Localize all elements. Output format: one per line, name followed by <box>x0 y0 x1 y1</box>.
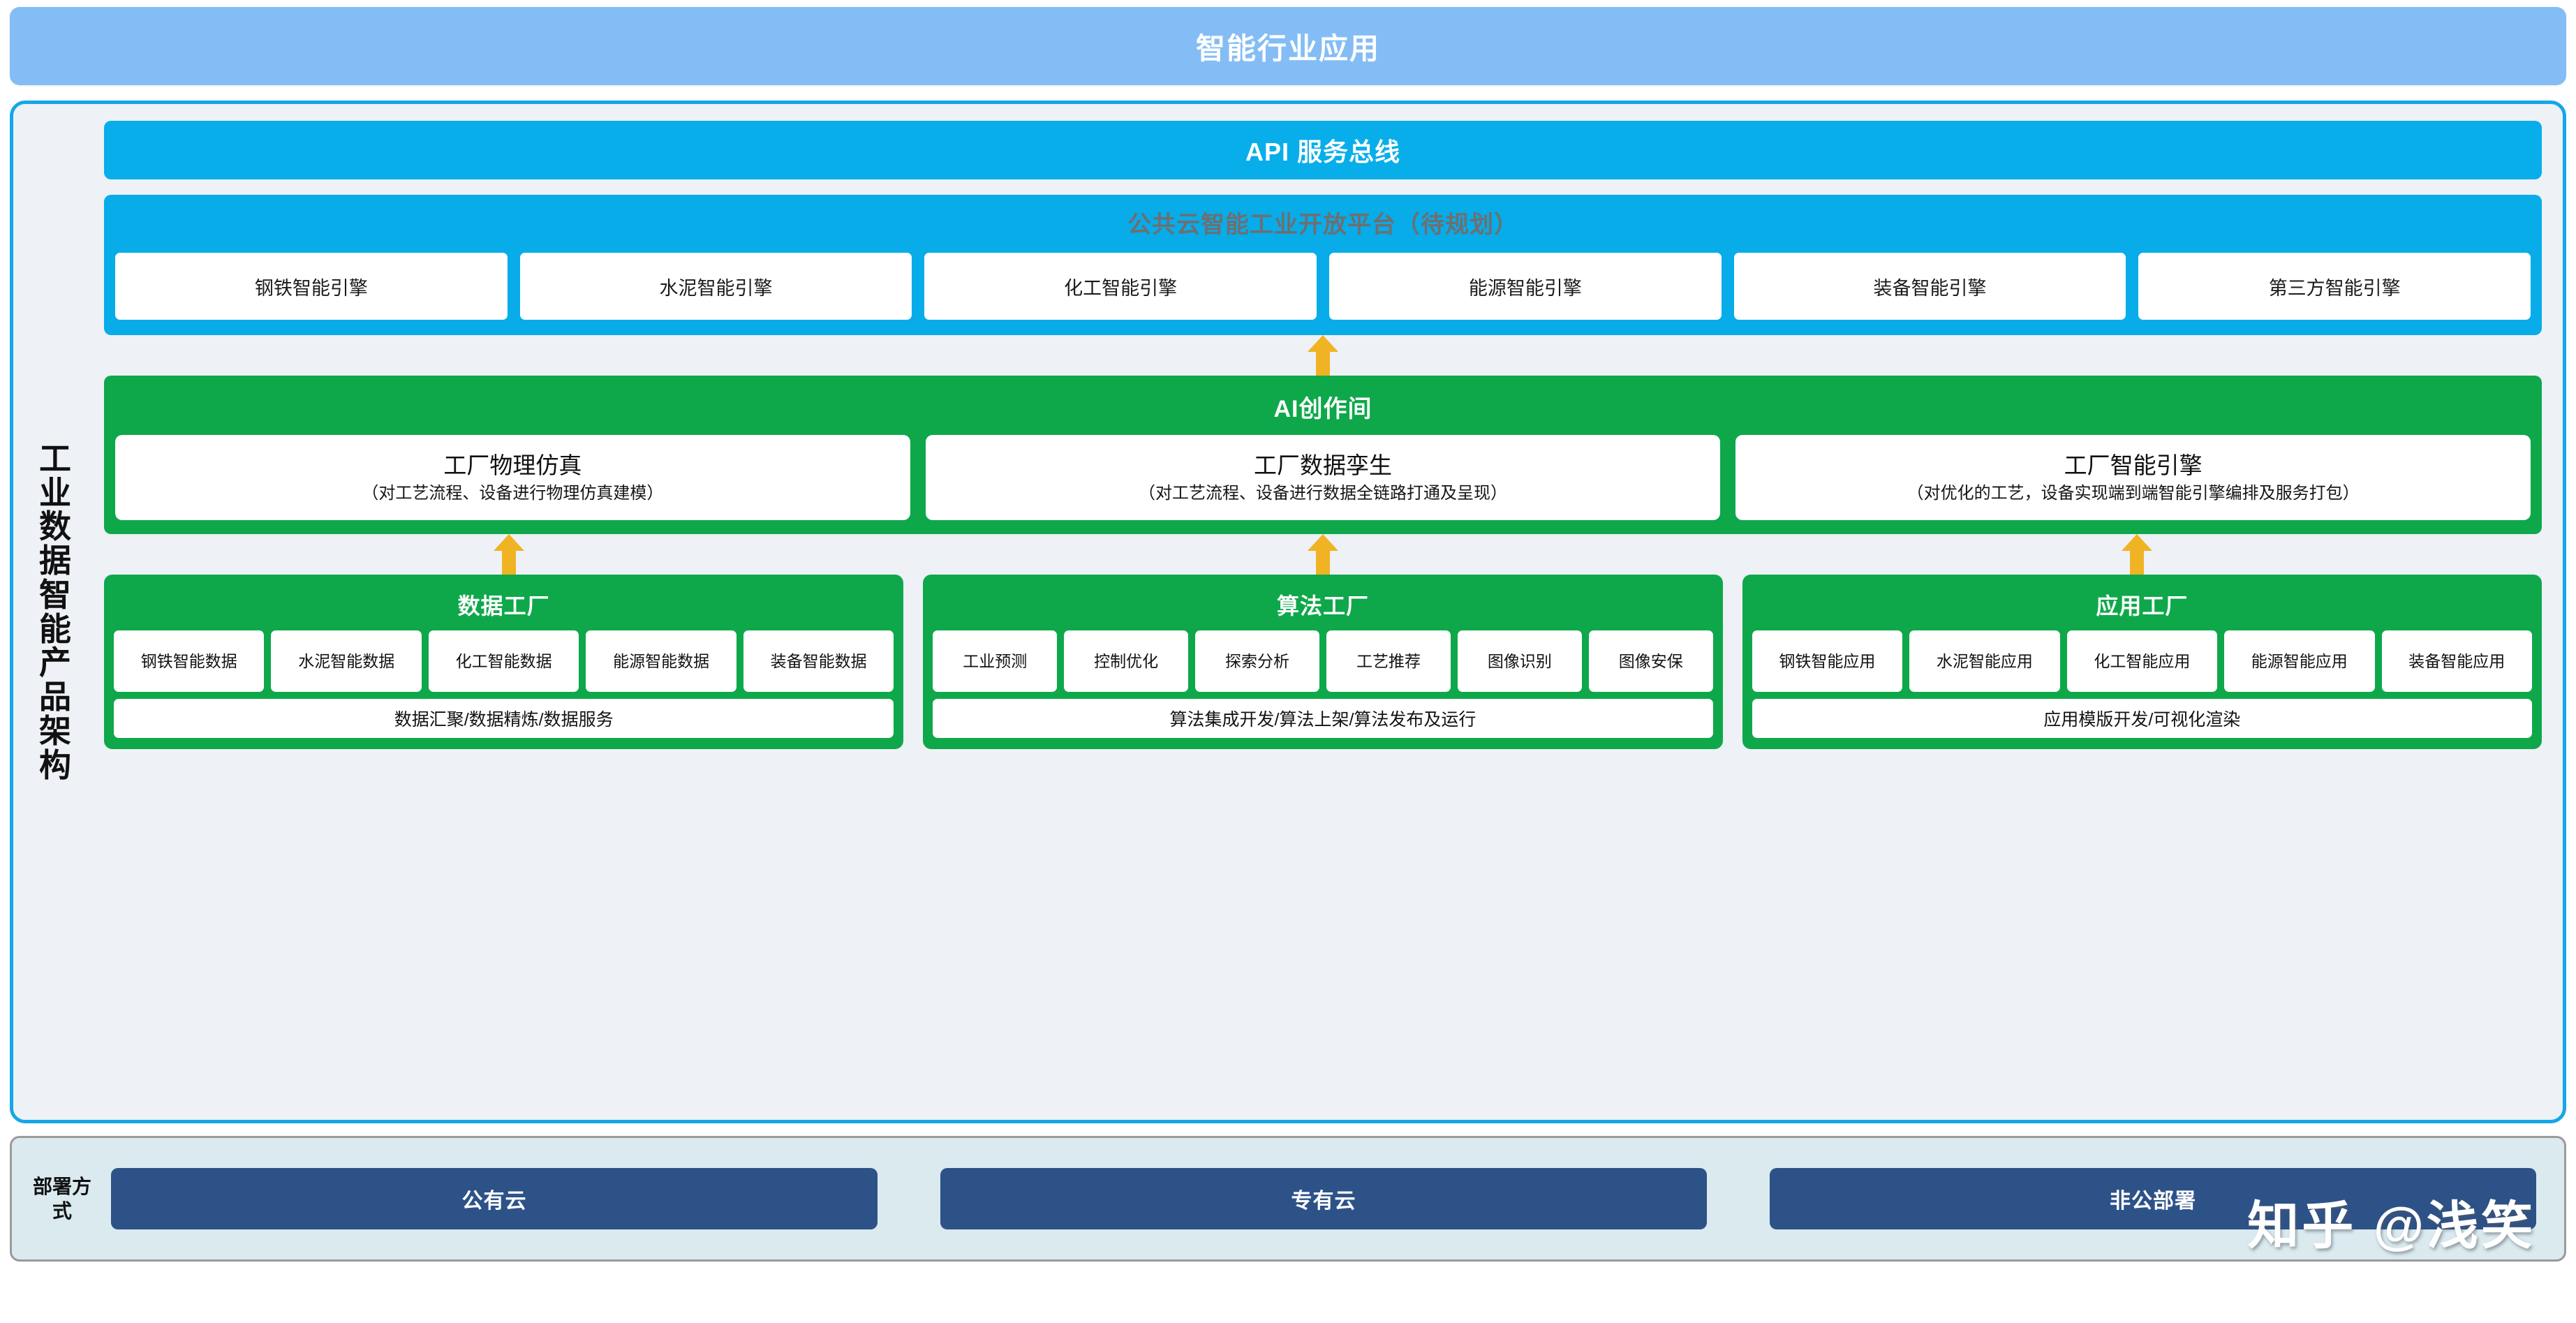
ai-studio-card-title: 工厂物理仿真 <box>443 451 582 480</box>
up-arrow-icon <box>1308 534 1338 575</box>
deploy-button-label: 专有云 <box>1291 1183 1356 1214</box>
factory-chip-label: 图像安保 <box>1619 651 1683 672</box>
ai-studio-title: AI创作间 <box>115 383 2531 435</box>
arrow-row-studio-to-platform <box>104 335 2542 376</box>
factory-chip[interactable]: 钢铁智能数据 <box>114 630 264 692</box>
factory-chip-row: 钢铁智能数据 水泥智能数据 化工智能数据 能源智能数据 装备智能数据 <box>114 630 894 692</box>
engine-label: 装备智能引擎 <box>1874 273 1987 300</box>
factory-chip-label: 工艺推荐 <box>1356 651 1421 672</box>
factory-chip-row: 钢铁智能应用 水泥智能应用 化工智能应用 能源智能应用 装备智能应用 <box>1752 630 2532 692</box>
factory-footer-label: 数据汇聚/数据精炼/数据服务 <box>394 706 614 731</box>
factory-chip[interactable]: 水泥智能数据 <box>271 630 421 692</box>
ai-studio-card-subtitle: （对优化的工艺，设备实现端到端智能引擎编排及服务打包） <box>1907 482 2360 504</box>
factory-footer: 算法集成开发/算法上架/算法发布及运行 <box>933 699 1712 738</box>
deploy-button-label: 公有云 <box>462 1183 527 1214</box>
factory-chip-label: 化工智能应用 <box>2094 651 2190 672</box>
factory-chip-label: 能源智能应用 <box>2251 651 2348 672</box>
architecture-diagram: 智能行业应用 工业数据智能产品架构 API 服务总线 公共云智能工业开放平台（待… <box>0 0 2576 1323</box>
deploy-private-button[interactable]: 非公部署 <box>1770 1168 2536 1229</box>
main-frame: 工业数据智能产品架构 API 服务总线 公共云智能工业开放平台（待规划） 钢铁智… <box>10 101 2566 1123</box>
factory-chip[interactable]: 工业预测 <box>933 630 1057 692</box>
ai-studio-card-title: 工厂智能引擎 <box>2064 451 2203 480</box>
api-bus-bar: API 服务总线 <box>104 121 2542 179</box>
factory-footer-label: 应用模版开发/可视化渲染 <box>2043 706 2240 731</box>
open-platform-block: 公共云智能工业开放平台（待规划） 钢铁智能引擎 水泥智能引擎 化工智能引擎 能源… <box>104 195 2542 335</box>
factory-chip-label: 化工智能数据 <box>456 651 552 672</box>
engine-card[interactable]: 化工智能引擎 <box>924 253 1317 320</box>
side-label: 工业数据智能产品架构 <box>13 104 97 1120</box>
factory-data: 数据工厂 钢铁智能数据 水泥智能数据 化工智能数据 能源智能数据 装备智能数据 … <box>104 575 903 749</box>
factory-chip-label: 图像识别 <box>1488 651 1552 672</box>
factory-chip[interactable]: 探索分析 <box>1195 630 1319 692</box>
factory-chip-label: 工业预测 <box>963 651 1027 672</box>
engine-card[interactable]: 钢铁智能引擎 <box>115 253 508 320</box>
factory-chip-label: 探索分析 <box>1225 651 1289 672</box>
factory-row: 数据工厂 钢铁智能数据 水泥智能数据 化工智能数据 能源智能数据 装备智能数据 … <box>104 575 2542 749</box>
factory-chip[interactable]: 化工智能数据 <box>429 630 579 692</box>
side-label-text: 工业数据智能产品架构 <box>34 442 77 783</box>
ai-studio-card[interactable]: 工厂数据孪生 （对工艺流程、设备进行数据全链路打通及呈现） <box>926 435 1721 520</box>
engine-label: 钢铁智能引擎 <box>255 273 368 300</box>
up-arrow-icon <box>1308 335 1338 376</box>
factory-chip[interactable]: 钢铁智能应用 <box>1752 630 1902 692</box>
factory-title: 数据工厂 <box>114 582 894 630</box>
factory-chip[interactable]: 工艺推荐 <box>1326 630 1451 692</box>
top-banner-title: 智能行业应用 <box>1196 25 1380 68</box>
factory-chip-label: 钢铁智能数据 <box>141 651 237 672</box>
deploy-dedicated-cloud-button[interactable]: 专有云 <box>940 1168 1707 1229</box>
api-bus-title: API 服务总线 <box>1245 132 1400 168</box>
factory-chip[interactable]: 图像识别 <box>1458 630 1582 692</box>
factory-chip-label: 装备智能数据 <box>771 651 867 672</box>
deployment-buttons: 公有云 专有云 非公部署 <box>111 1168 2536 1229</box>
engine-card[interactable]: 能源智能引擎 <box>1329 253 1722 320</box>
frame-body: API 服务总线 公共云智能工业开放平台（待规划） 钢铁智能引擎 水泥智能引擎 … <box>97 104 2563 1120</box>
engine-row: 钢铁智能引擎 水泥智能引擎 化工智能引擎 能源智能引擎 装备智能引擎 第三方智能… <box>115 253 2531 320</box>
ai-studio-card[interactable]: 工厂物理仿真 （对工艺流程、设备进行物理仿真建模） <box>115 435 910 520</box>
factory-chip[interactable]: 控制优化 <box>1064 630 1188 692</box>
deployment-label: 部署方式 <box>29 1174 96 1223</box>
factory-chip-label: 水泥智能数据 <box>298 651 394 672</box>
ai-studio-block: AI创作间 工厂物理仿真 （对工艺流程、设备进行物理仿真建模） 工厂数据孪生 （… <box>104 376 2542 534</box>
engine-label: 能源智能引擎 <box>1469 273 1582 300</box>
deployment-row: 部署方式 公有云 专有云 非公部署 <box>10 1136 2566 1262</box>
engine-label: 水泥智能引擎 <box>660 273 773 300</box>
factory-title: 算法工厂 <box>933 582 1712 630</box>
factory-footer-label: 算法集成开发/算法上架/算法发布及运行 <box>1170 706 1476 731</box>
factory-chip[interactable]: 化工智能应用 <box>2067 630 2217 692</box>
factory-chip[interactable]: 能源智能数据 <box>586 630 736 692</box>
top-banner: 智能行业应用 <box>10 7 2566 85</box>
factory-chip-label: 能源智能数据 <box>613 651 709 672</box>
engine-card[interactable]: 水泥智能引擎 <box>520 253 912 320</box>
factory-chip-label: 装备智能应用 <box>2408 651 2505 672</box>
ai-studio-card[interactable]: 工厂智能引擎 （对优化的工艺，设备实现端到端智能引擎编排及服务打包） <box>1735 435 2531 520</box>
ai-studio-card-title: 工厂数据孪生 <box>1254 451 1392 480</box>
factory-chip[interactable]: 图像安保 <box>1589 630 1713 692</box>
factory-algorithm: 算法工厂 工业预测 控制优化 探索分析 工艺推荐 图像识别 图像安保 算法集成开… <box>923 575 1722 749</box>
ai-studio-card-subtitle: （对工艺流程、设备进行数据全链路打通及呈现） <box>1139 482 1507 504</box>
factory-chip-label: 钢铁智能应用 <box>1779 651 1875 672</box>
factory-title: 应用工厂 <box>1752 582 2532 630</box>
factory-chip-label: 控制优化 <box>1094 651 1158 672</box>
deploy-button-label: 非公部署 <box>2110 1183 2196 1214</box>
engine-label: 第三方智能引擎 <box>2269 273 2401 300</box>
up-arrow-icon <box>2122 534 2152 575</box>
factory-footer: 数据汇聚/数据精炼/数据服务 <box>114 699 894 738</box>
engine-label: 化工智能引擎 <box>1064 273 1177 300</box>
deploy-public-cloud-button[interactable]: 公有云 <box>111 1168 878 1229</box>
factory-chip[interactable]: 水泥智能应用 <box>1909 630 2059 692</box>
factory-chip[interactable]: 装备智能应用 <box>2382 630 2532 692</box>
ai-studio-card-row: 工厂物理仿真 （对工艺流程、设备进行物理仿真建模） 工厂数据孪生 （对工艺流程、… <box>115 435 2531 520</box>
up-arrow-icon <box>494 534 524 575</box>
factory-chip-label: 水泥智能应用 <box>1937 651 2033 672</box>
factory-chip[interactable]: 能源智能应用 <box>2224 630 2374 692</box>
engine-card[interactable]: 第三方智能引擎 <box>2138 253 2531 320</box>
factory-chip-row: 工业预测 控制优化 探索分析 工艺推荐 图像识别 图像安保 <box>933 630 1712 692</box>
open-platform-title: 公共云智能工业开放平台（待规划） <box>115 203 2531 253</box>
ai-studio-card-subtitle: （对工艺流程、设备进行物理仿真建模） <box>362 482 663 504</box>
engine-card[interactable]: 装备智能引擎 <box>1734 253 2126 320</box>
factory-chip[interactable]: 装备智能数据 <box>743 630 894 692</box>
factory-footer: 应用模版开发/可视化渲染 <box>1752 699 2532 738</box>
factory-application: 应用工厂 钢铁智能应用 水泥智能应用 化工智能应用 能源智能应用 装备智能应用 … <box>1742 575 2542 749</box>
arrow-row-factories-to-studio <box>104 534 2542 575</box>
